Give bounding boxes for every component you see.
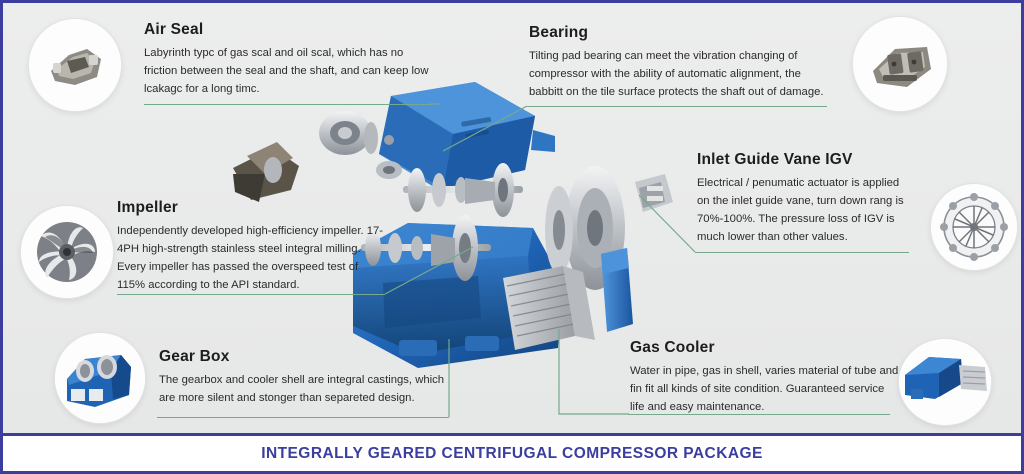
leader-rule-bearing (527, 106, 827, 107)
callout-air-seal: Air Seal Labyrinth typc of gas scal and … (144, 21, 434, 99)
thumbnail-inlet-guide-vane[interactable] (931, 184, 1017, 270)
callout-impeller: Impeller Independently developed high-ef… (117, 199, 387, 294)
banner-title: INTEGRALLY GEARED CENTRIFUGAL COMPRESSOR… (261, 445, 763, 463)
leader-line-gear-box (443, 303, 513, 423)
callout-bearing: Bearing Tilting pad bearing can meet the… (529, 24, 829, 102)
thumbnail-impeller[interactable] (21, 206, 113, 298)
inlet-guide-vane-photo (940, 193, 1008, 261)
callout-body-gear-box: The gearbox and cooler shell are integra… (159, 372, 449, 408)
callout-title-air-seal: Air Seal (144, 21, 434, 39)
thumbnail-bearing[interactable] (853, 17, 947, 111)
callout-title-impeller: Impeller (117, 199, 387, 217)
callout-title-inlet-guide-vane-igv: Inlet Guide Vane IGV (697, 151, 907, 169)
bottom-banner: INTEGRALLY GEARED CENTRIFUGAL COMPRESSOR… (3, 433, 1021, 471)
leader-rule-impeller (117, 294, 385, 295)
leader-line-impeller (381, 233, 491, 299)
leader-line-bearing (433, 99, 543, 159)
leader-line-igv (633, 189, 713, 259)
leader-line-air-seal (123, 98, 443, 143)
impeller-photo (37, 222, 97, 282)
leader-line-gas-cooler (551, 303, 641, 421)
callout-title-bearing: Bearing (529, 24, 829, 42)
callout-body-impeller: Independently developed high-efficiency … (117, 223, 387, 294)
callout-body-inlet-guide-vane-igv: Electrical / penumatic actuator is appli… (697, 175, 907, 246)
leader-rule-gas-cooler (628, 414, 890, 415)
leader-rule-igv (695, 252, 909, 253)
callout-body-bearing: Tilting pad bearing can meet the vibrati… (529, 48, 829, 102)
callout-title-gear-box: Gear Box (159, 348, 449, 366)
thumbnail-gear-box[interactable] (55, 333, 145, 423)
impeller-assembly-left (233, 142, 299, 202)
callout-gear-box: Gear Box The gearbox and cooler shell ar… (159, 348, 449, 408)
thumbnail-air-seal[interactable] (29, 19, 121, 111)
thumbnail-gas-cooler[interactable] (899, 339, 991, 425)
callout-inlet-guide-vane-igv: Inlet Guide Vane IGV Electrical / penuma… (697, 151, 907, 246)
infographic-page: Air Seal Labyrinth typc of gas scal and … (0, 0, 1024, 474)
diagram-canvas: Air Seal Labyrinth typc of gas scal and … (3, 3, 1021, 433)
leader-rule-gear-box (157, 417, 449, 418)
callout-body-air-seal: Labyrinth typc of gas scal and oil scal,… (144, 45, 434, 99)
callout-gas-cooler: Gas Cooler Water in pipe, gas in shell, … (630, 339, 900, 417)
callout-title-gas-cooler: Gas Cooler (630, 339, 900, 357)
callout-body-gas-cooler: Water in pipe, gas in shell, varies mate… (630, 363, 900, 417)
